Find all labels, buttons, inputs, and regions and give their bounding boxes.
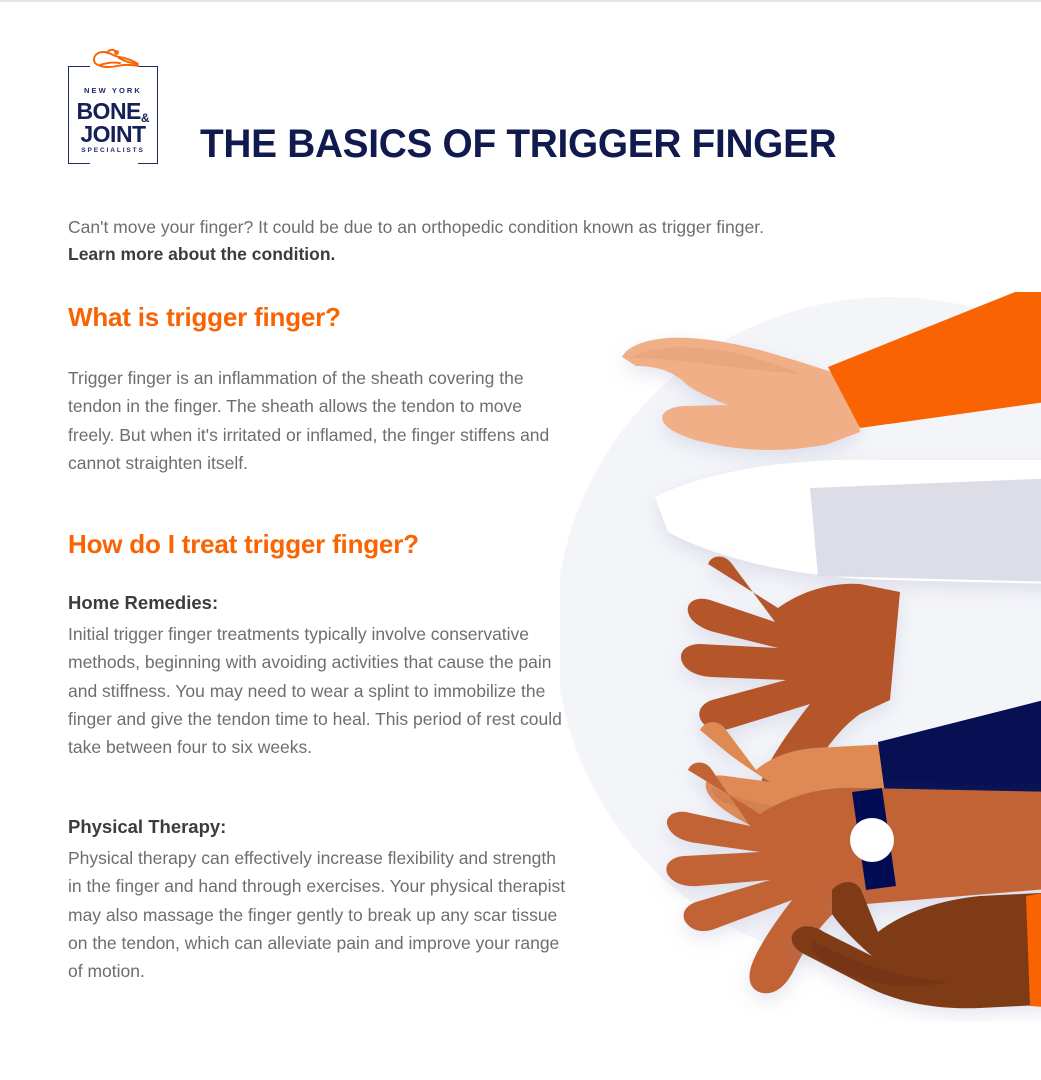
logo-text-joint: JOINT — [68, 121, 158, 148]
hand-medium-light-navy-sleeve — [700, 722, 900, 836]
section-heading-what-is-trigger-finger: What is trigger finger? — [68, 302, 341, 333]
logo-text-specialists: SPECIALISTS — [68, 147, 158, 154]
subsection-body-home-remedies: Initial trigger finger treatments typica… — [68, 620, 566, 762]
hands-illustration — [560, 292, 1041, 1022]
company-logo[interactable]: NEW YORK BONE& JOINT SPECIALISTS — [68, 44, 160, 166]
subsection-heading-home-remedies: Home Remedies: — [68, 592, 218, 614]
reclining-figure-icon — [86, 46, 142, 74]
subsection-body-physical-therapy: Physical therapy can effectively increas… — [68, 844, 566, 986]
hand-light-orange-sleeve — [622, 338, 860, 450]
intro-cta: Learn more about the condition. — [68, 241, 848, 268]
intro-text: Can't move your finger? It could be due … — [68, 217, 764, 237]
section-body-what-is-trigger-finger: Trigger finger is an inflammation of the… — [68, 364, 568, 477]
logo-frame-notch-bottom — [90, 160, 138, 166]
infographic-page: NEW YORK BONE& JOINT SPECIALISTS THE BAS… — [0, 0, 1041, 1080]
watch-band — [852, 788, 896, 890]
hand-dark-brown-orange-sleeve — [792, 882, 1041, 1008]
page-title: THE BASICS OF TRIGGER FINGER — [200, 122, 836, 166]
watch-face — [850, 818, 894, 862]
sleeve-lab-coat — [655, 460, 1041, 584]
subsection-heading-physical-therapy: Physical Therapy: — [68, 816, 226, 838]
content-column: Can't move your finger? It could be due … — [68, 214, 858, 267]
hand-medium-brown-watch — [666, 763, 1041, 994]
sleeve-navy — [878, 696, 1041, 832]
logo-text-newyork: NEW YORK — [68, 86, 158, 95]
section-heading-how-do-i-treat-trigger-finger: How do I treat trigger finger? — [68, 529, 419, 560]
sleeve-orange-top — [828, 292, 1041, 428]
sleeve-orange-bottom — [1026, 890, 1041, 1008]
intro-paragraph: Can't move your finger? It could be due … — [68, 214, 848, 267]
hand-medium-brown-upper — [681, 557, 900, 808]
circle-backdrop — [560, 297, 1041, 967]
